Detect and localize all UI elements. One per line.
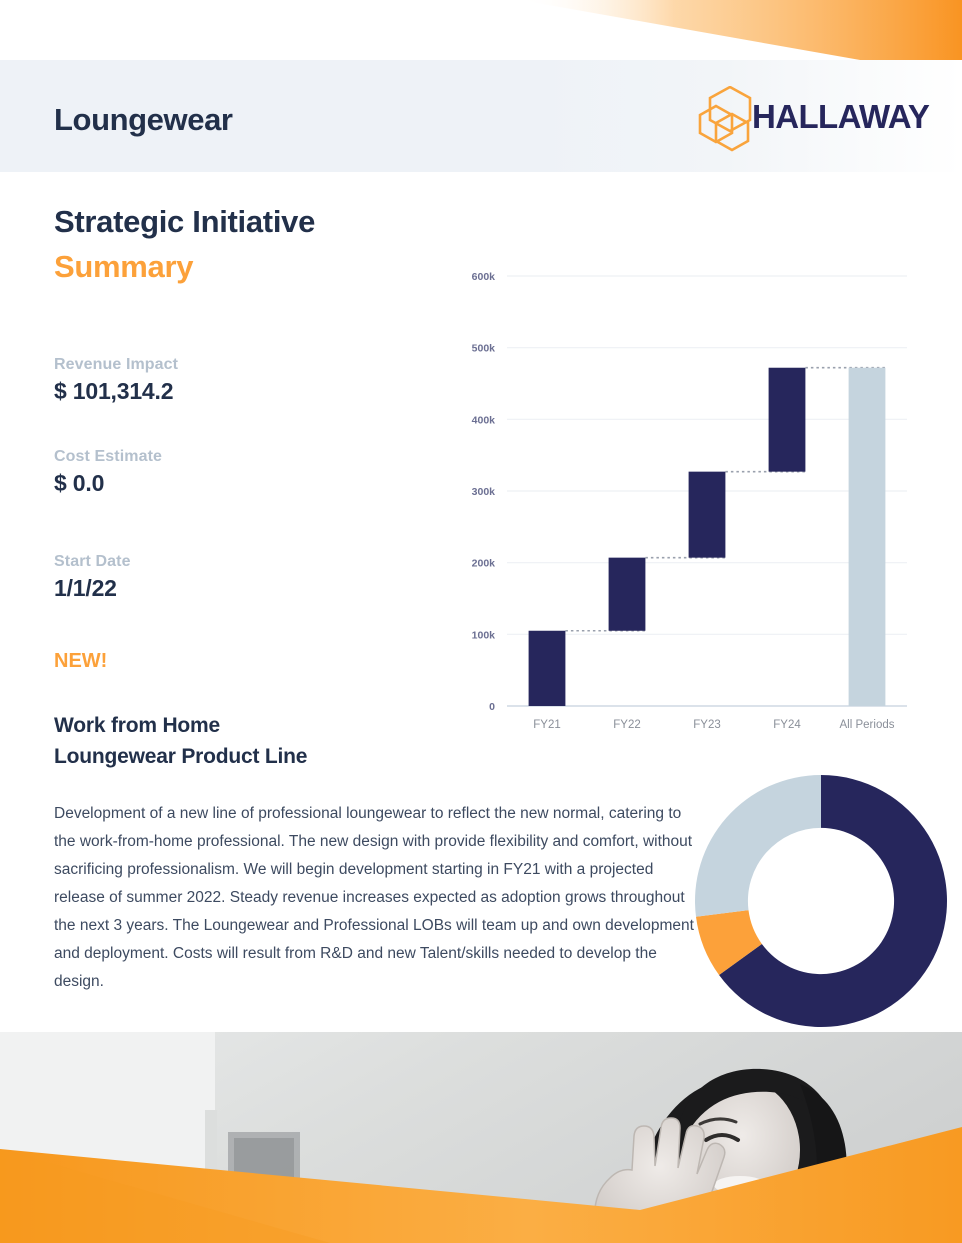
new-badge: NEW!	[54, 650, 107, 673]
metric-start-date: Start Date 1/1/22	[54, 553, 131, 602]
svg-text:FY21: FY21	[533, 719, 561, 731]
page-title: Loungewear	[54, 102, 233, 138]
initiative-title: Work from Home Loungewear Product Line	[54, 710, 307, 772]
logo-wordmark: HALLAWAY	[752, 98, 929, 136]
headline-line-2: Summary	[54, 245, 315, 290]
donut-chart	[690, 772, 952, 1030]
brand-logo: HALLAWAY	[698, 86, 926, 154]
metric-value: 1/1/22	[54, 575, 131, 602]
metric-cost-estimate: Cost Estimate $ 0.0	[54, 448, 162, 497]
metric-label: Start Date	[54, 553, 131, 571]
initiative-description: Development of a new line of professiona…	[54, 800, 694, 996]
svg-text:300k: 300k	[472, 486, 496, 498]
waterfall-chart: 0100k200k300k400k500k600kFY21FY22FY23FY2…	[445, 258, 915, 748]
metric-value: $ 0.0	[54, 470, 162, 497]
metric-label: Cost Estimate	[54, 448, 162, 466]
metric-label: Revenue Impact	[54, 356, 178, 374]
svg-text:FY22: FY22	[613, 719, 641, 731]
svg-text:FY23: FY23	[693, 719, 721, 731]
svg-text:100k: 100k	[472, 629, 496, 641]
bottom-photo-person-waving	[0, 1032, 962, 1243]
initiative-title-line-1: Work from Home	[54, 710, 307, 741]
section-headline: Strategic Initiative Summary	[54, 200, 315, 290]
headline-line-1: Strategic Initiative	[54, 204, 315, 239]
svg-text:200k: 200k	[472, 558, 496, 570]
metric-revenue-impact: Revenue Impact $ 101,314.2	[54, 356, 178, 405]
svg-text:400k: 400k	[472, 414, 496, 426]
initiative-title-line-2: Loungewear Product Line	[54, 741, 307, 772]
slide-page: Loungewear HALLAWAY Strategic Initiative…	[0, 0, 962, 1243]
metric-value: $ 101,314.2	[54, 378, 178, 405]
donut-segment	[695, 775, 821, 917]
svg-text:0: 0	[489, 701, 495, 713]
svg-text:All Periods: All Periods	[840, 719, 895, 731]
svg-text:500k: 500k	[472, 343, 496, 355]
svg-text:FY24: FY24	[773, 719, 801, 731]
svg-text:600k: 600k	[472, 271, 496, 283]
